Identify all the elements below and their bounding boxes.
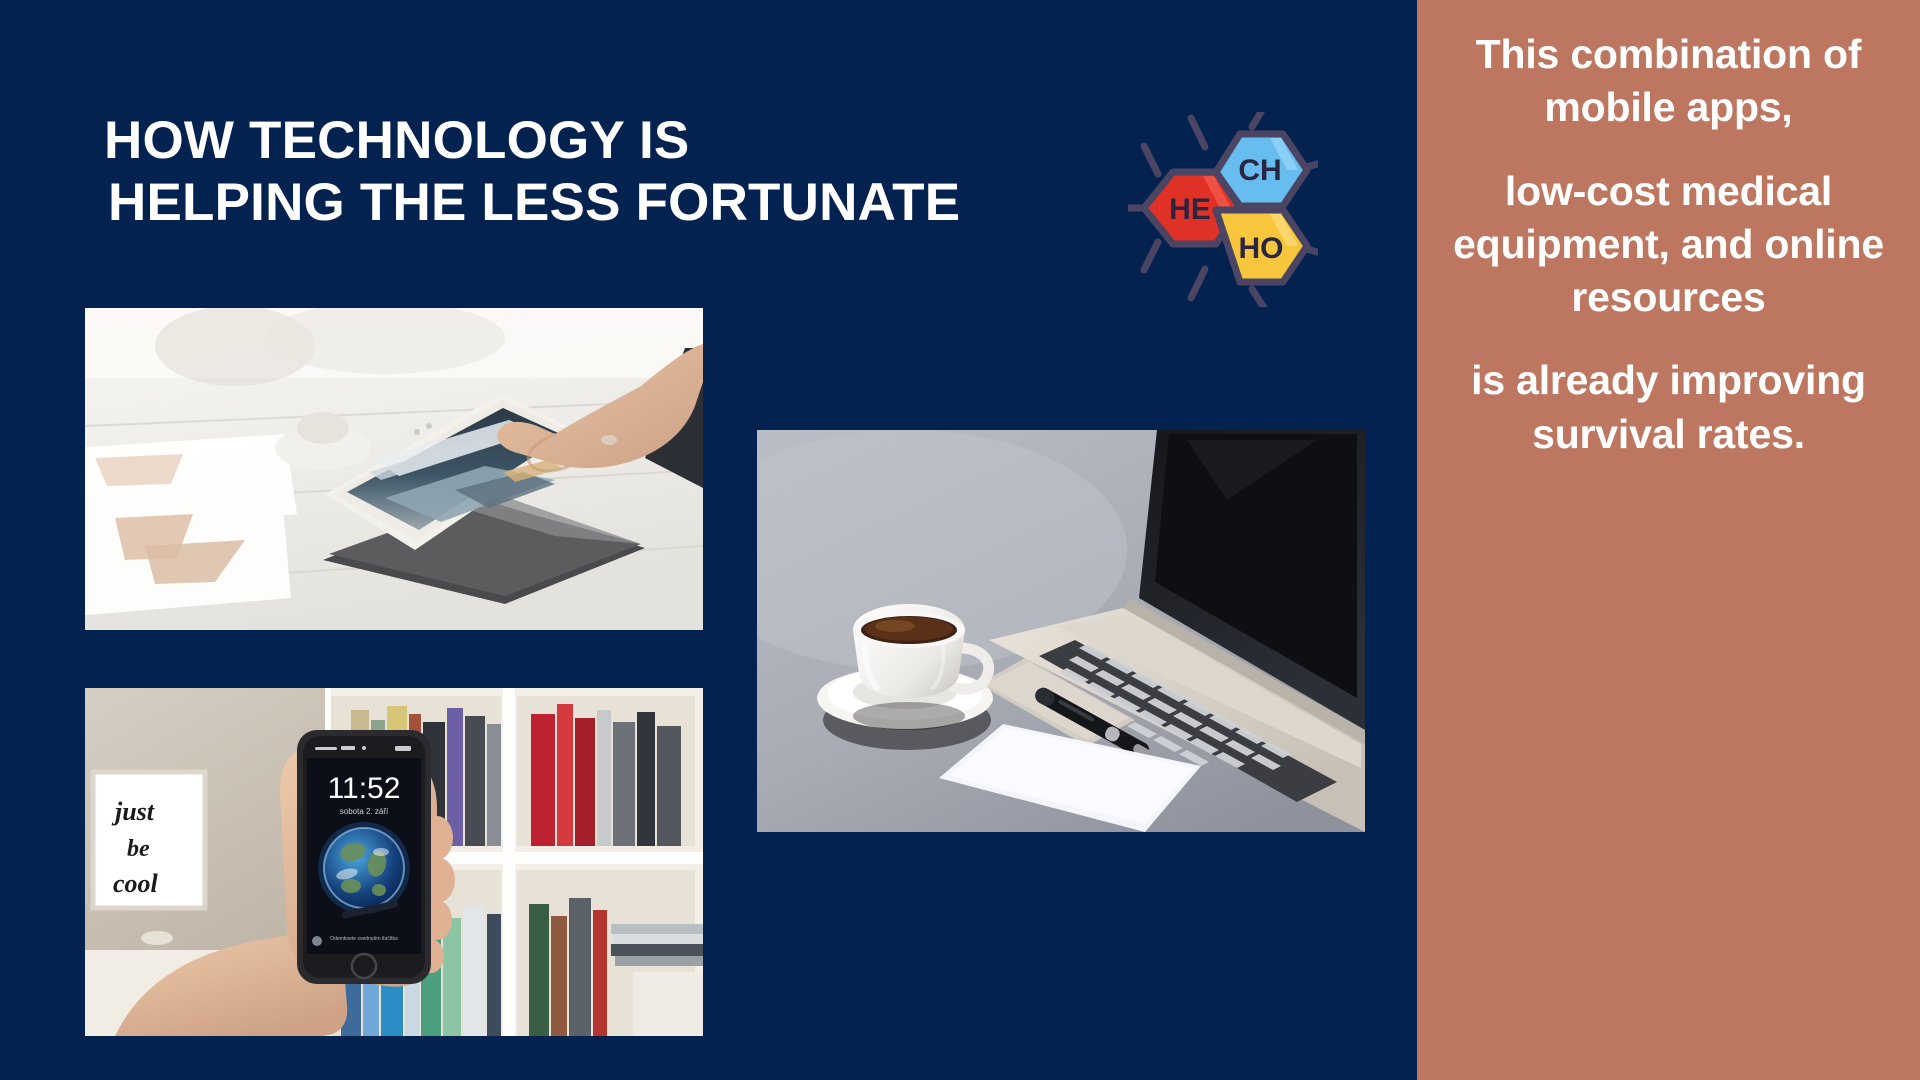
side-panel: This combination of mobile apps, low-cos…: [1417, 0, 1920, 1080]
molecule-label-ch: CH: [1238, 154, 1281, 187]
phone-lockscreen-time: 11:52: [328, 772, 401, 805]
phone-unlock-hint: Odemknete zvednutím tlačítka: [330, 936, 398, 942]
phone-lockscreen-date: sobota 2. září: [340, 807, 389, 816]
molecule-node-ho: HO: [1216, 210, 1307, 282]
side-paragraph-2: low-cost medical equipment, and online r…: [1425, 165, 1912, 325]
side-panel-text: This combination of mobile apps, low-cos…: [1417, 28, 1920, 461]
title-line-1: HOW TECHNOLOGY IS: [104, 110, 1184, 172]
photo-laptop: [757, 430, 1365, 832]
molecule-node-ch: CH: [1216, 134, 1307, 206]
side-paragraph-gap-2: [1425, 324, 1912, 354]
framed-print-line-3: cool: [113, 869, 159, 898]
side-paragraph-gap-1: [1425, 135, 1912, 165]
framed-print-line-1: just: [111, 797, 155, 826]
side-paragraph-1: This combination of mobile apps,: [1425, 28, 1912, 135]
side-paragraph-3: is already improving survival rates.: [1425, 354, 1912, 461]
molecule-label-he: HE: [1169, 193, 1211, 226]
page-title: HOW TECHNOLOGY IS HELPING THE LESS FORTU…: [104, 110, 1184, 234]
photo-phone: just be cool: [85, 688, 703, 1036]
photo-tablet: [85, 308, 703, 630]
molecule-hexagons-icon: HE CH HO: [1128, 112, 1318, 307]
molecule-label-ho: HO: [1239, 232, 1284, 265]
framed-print-line-2: be: [127, 836, 150, 862]
slide-canvas: HOW TECHNOLOGY IS HELPING THE LESS FORTU…: [0, 0, 1920, 1080]
title-line-2: HELPING THE LESS FORTUNATE: [104, 172, 1184, 234]
